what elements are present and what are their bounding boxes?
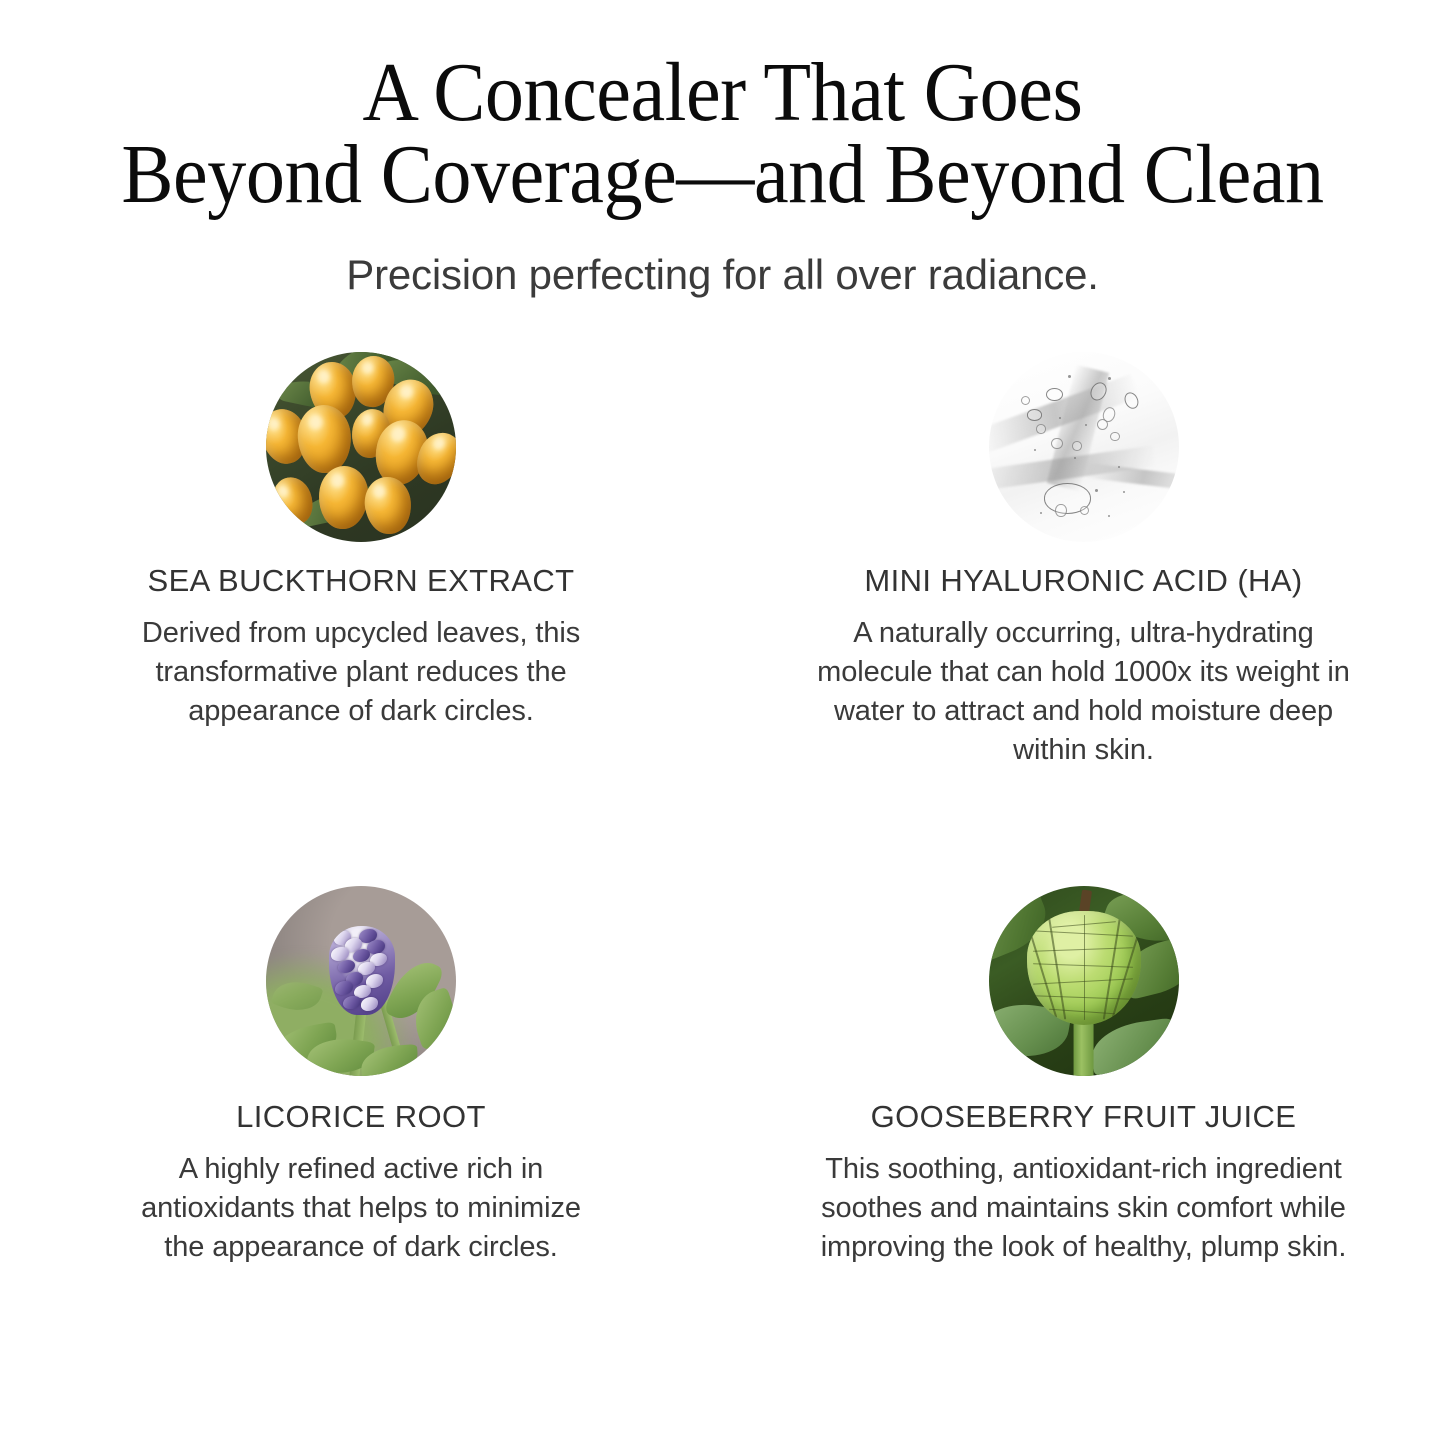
ingredient-title: GOOSEBERRY FRUIT JUICE <box>750 1094 1417 1136</box>
ingredient-title: SEA BUCKTHORN EXTRACT <box>28 560 694 600</box>
ingredient-benefits-infographic: A Concealer That Goes Beyond Coverage—an… <box>0 0 1445 1445</box>
ingredient-description: A naturally occurring, ultra-hydrating m… <box>811 600 1356 770</box>
ingredient-title: MINI HYALURONIC ACID (HA) <box>750 560 1417 600</box>
ingredient-card-licorice-root: LICORICE ROOT A highly refined active ri… <box>0 860 722 1267</box>
licorice-root-image <box>266 886 456 1076</box>
gooseberry-image <box>989 886 1179 1076</box>
thumb-wrapper <box>750 886 1417 1094</box>
ingredient-card-gooseberry: GOOSEBERRY FRUIT JUICE This soothing, an… <box>722 860 1445 1267</box>
ingredient-description: Derived from upcycled leaves, this trans… <box>126 600 596 731</box>
ingredient-description: A highly refined active rich in antioxid… <box>126 1136 596 1267</box>
page-title: A Concealer That Goes Beyond Coverage—an… <box>51 52 1395 216</box>
thumb-wrapper <box>28 352 694 560</box>
hyaluronic-acid-image <box>989 352 1179 542</box>
thumb-wrapper <box>750 352 1417 560</box>
ingredient-card-hyaluronic-acid: MINI HYALURONIC ACID (HA) A naturally oc… <box>722 352 1445 860</box>
ingredient-description: This soothing, antioxidant-rich ingredie… <box>811 1136 1356 1267</box>
ingredient-card-sea-buckthorn: SEA BUCKTHORN EXTRACT Derived from upcyc… <box>0 352 722 860</box>
header-block: A Concealer That Goes Beyond Coverage—an… <box>0 0 1445 300</box>
page-subtitle: Precision perfecting for all over radian… <box>0 216 1445 300</box>
sea-buckthorn-image <box>266 352 456 542</box>
thumb-wrapper <box>28 886 694 1094</box>
ingredient-title: LICORICE ROOT <box>28 1094 694 1136</box>
ingredient-grid: SEA BUCKTHORN EXTRACT Derived from upcyc… <box>0 352 1445 1267</box>
